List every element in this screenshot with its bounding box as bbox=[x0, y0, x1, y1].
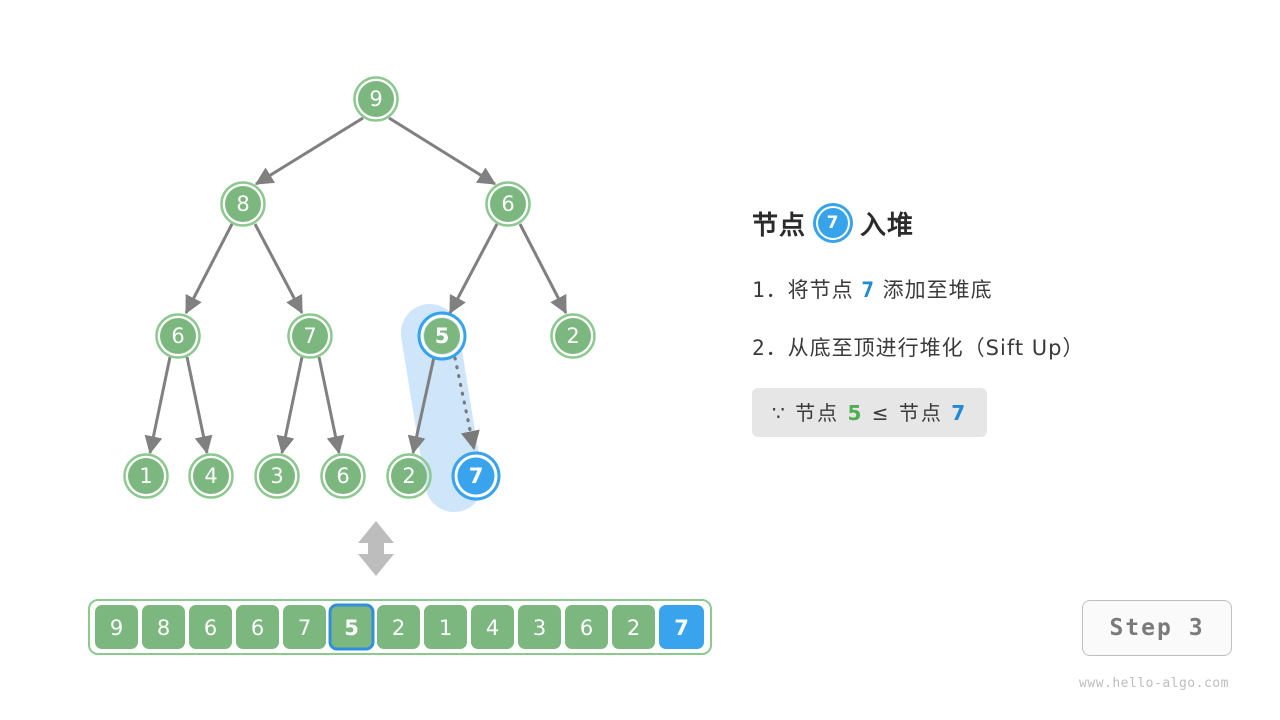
step-2-text-before: 从底至顶进行堆化（Sift Up） bbox=[788, 336, 1085, 360]
array-cell: 6 bbox=[189, 605, 232, 649]
array-cell: 9 bbox=[95, 605, 138, 649]
array-cell-value: 6 bbox=[251, 616, 264, 640]
array-cell-value: 6 bbox=[580, 616, 593, 640]
tree-node-8: 8 bbox=[222, 183, 265, 226]
tree-edges bbox=[150, 118, 566, 453]
tree-node-label: 8 bbox=[236, 192, 249, 216]
array-cell: 6 bbox=[565, 605, 608, 649]
explanation-panel: 节点 7 入堆 1．将节点 7 添加至堆底 2．从底至顶进行堆化（Sift Up… bbox=[752, 200, 1232, 437]
array-cell-value: 9 bbox=[110, 616, 123, 640]
array-cell-value: 6 bbox=[204, 616, 217, 640]
tree-node-label: 2 bbox=[402, 464, 415, 488]
array-cell: 2 bbox=[612, 605, 655, 649]
tree-node-5-selected: 5 bbox=[419, 313, 465, 359]
hint-because-symbol: ∵ bbox=[772, 401, 787, 425]
array-cell-selected: 5 bbox=[330, 605, 373, 649]
step-1-highlight-value: 7 bbox=[861, 278, 875, 302]
tree-node-4-leaf: 4 bbox=[190, 455, 233, 498]
tree-node-label: 2 bbox=[566, 324, 579, 348]
tree-node-7-inserted: 7 bbox=[453, 453, 499, 499]
array-cell: 3 bbox=[518, 605, 561, 649]
step-1-text-after: 添加至堆底 bbox=[875, 278, 993, 302]
hint-left-label: 节点 bbox=[795, 401, 839, 425]
panel-title-node-badge: 7 bbox=[816, 206, 850, 240]
array-cell-value: 3 bbox=[533, 616, 546, 640]
hint-left-value: 5 bbox=[847, 401, 863, 425]
tree-node-6-leaf: 6 bbox=[322, 455, 365, 498]
comparison-hint-box: ∵ 节点 5 ≤ 节点 7 bbox=[752, 388, 987, 437]
panel-title-prefix: 节点 bbox=[752, 205, 806, 242]
panel-title-suffix: 入堆 bbox=[860, 205, 914, 242]
step-2-index: 2． bbox=[752, 336, 788, 360]
array-cell-value: 2 bbox=[627, 616, 640, 640]
tree-node-label: 9 bbox=[369, 87, 382, 111]
tree-node-label: 6 bbox=[171, 324, 184, 348]
array-cell-value: 5 bbox=[344, 616, 359, 640]
array-cell: 4 bbox=[471, 605, 514, 649]
tree-node-6-l2a: 6 bbox=[157, 315, 200, 358]
tree-node-label: 7 bbox=[303, 324, 316, 348]
step-line-1: 1．将节点 7 添加至堆底 bbox=[752, 274, 1232, 304]
step-1-text-before: 将节点 bbox=[788, 278, 862, 302]
array-cell: 6 bbox=[236, 605, 279, 649]
array-cell-value: 7 bbox=[674, 616, 689, 640]
step-line-2: 2．从底至顶进行堆化（Sift Up） bbox=[752, 332, 1232, 362]
tree-node-label: 7 bbox=[469, 464, 484, 488]
step-badge: Step 3 bbox=[1082, 600, 1232, 656]
tree-node-label: 3 bbox=[270, 464, 283, 488]
array-cell: 2 bbox=[377, 605, 420, 649]
watermark: www.hello-algo.com bbox=[1074, 676, 1234, 691]
tree-node-label: 6 bbox=[501, 192, 514, 216]
tree-array-sync-arrow bbox=[358, 521, 394, 576]
array-cell-value: 4 bbox=[486, 616, 499, 640]
array-cell: 7 bbox=[283, 605, 326, 649]
array-cell-value: 7 bbox=[298, 616, 311, 640]
hint-operator: ≤ bbox=[872, 401, 891, 425]
array-cell-value: 1 bbox=[439, 616, 452, 640]
array-cell-value: 2 bbox=[392, 616, 405, 640]
diagram-canvas: 9 8 6 6 7 5 bbox=[0, 0, 1280, 720]
tree-node-7-l2b: 7 bbox=[289, 315, 332, 358]
tree-node-1-leaf: 1 bbox=[125, 455, 168, 498]
tree-node-label: 4 bbox=[204, 464, 217, 488]
array-cell: 8 bbox=[142, 605, 185, 649]
tree-node-label: 1 bbox=[139, 464, 152, 488]
array-cell: 1 bbox=[424, 605, 467, 649]
step-1-index: 1． bbox=[752, 278, 788, 302]
array-cell-inserted: 7 bbox=[659, 605, 704, 649]
tree-node-label: 5 bbox=[435, 324, 450, 348]
tree-node-label: 6 bbox=[336, 464, 349, 488]
hint-right-value: 7 bbox=[951, 401, 967, 425]
array-cell-value: 8 bbox=[157, 616, 170, 640]
tree-node-3-leaf: 3 bbox=[256, 455, 299, 498]
hint-right-label: 节点 bbox=[899, 401, 943, 425]
tree-node-9-root: 9 bbox=[355, 78, 398, 121]
array-cells: 9 8 6 6 7 5 2 1 4 3 6 2 bbox=[95, 605, 704, 649]
tree-node-2-l2d: 2 bbox=[552, 315, 595, 358]
panel-title: 节点 7 入堆 bbox=[752, 200, 1232, 246]
tree-node-2-leaf: 2 bbox=[388, 455, 431, 498]
tree-node-6-right: 6 bbox=[487, 183, 530, 226]
